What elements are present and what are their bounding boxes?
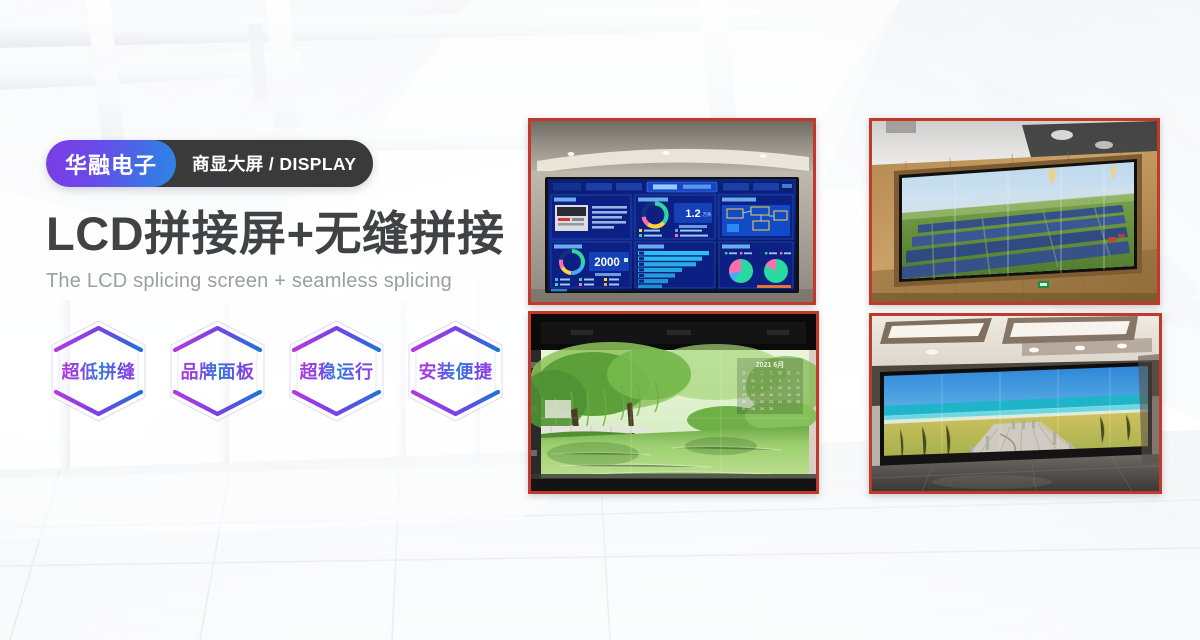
svg-text:2000: 2000 <box>594 257 620 269</box>
feature-badge: 品牌面板 <box>165 317 270 425</box>
svg-text:12: 12 <box>796 386 800 390</box>
svg-text:29: 29 <box>760 407 764 411</box>
svg-text:30: 30 <box>769 407 773 411</box>
svg-text:2: 2 <box>770 379 772 383</box>
svg-text:2021 6月: 2021 6月 <box>756 361 784 369</box>
svg-text:6: 6 <box>743 386 745 390</box>
beach-boardwalk-wall-illustration <box>872 316 1159 491</box>
feature-badge-label: 安装便捷 <box>419 358 493 384</box>
lake-scenery-wall-illustration: 2021 6月 日一二 三四五六 303112345 6789101112 13… <box>531 314 816 491</box>
svg-text:21: 21 <box>751 400 755 404</box>
svg-text:7: 7 <box>752 386 754 390</box>
brand-category: 商显大屏 / DISPLAY <box>152 140 373 187</box>
svg-text:14: 14 <box>751 393 755 397</box>
feature-badge-label: 超稳运行 <box>300 358 374 384</box>
page-title: LCD拼接屏+无缝拼接 <box>46 209 516 260</box>
svg-text:10: 10 <box>778 386 782 390</box>
svg-text:9: 9 <box>770 386 772 390</box>
headline-block: 华融电子 商显大屏 / DISPLAY LCD拼接屏+无缝拼接 The LCD … <box>46 140 516 425</box>
svg-text:22: 22 <box>760 400 764 404</box>
svg-text:万条: 万条 <box>703 211 712 218</box>
svg-text:日: 日 <box>742 371 745 375</box>
svg-text:19: 19 <box>796 393 800 397</box>
svg-text:20: 20 <box>742 400 746 404</box>
feature-badge: 安装便捷 <box>403 317 508 425</box>
brand-pill: 华融电子 商显大屏 / DISPLAY <box>46 140 373 187</box>
feature-badge-label: 超低拼缝 <box>62 358 136 384</box>
svg-text:1.2: 1.2 <box>685 208 700 220</box>
feature-badge-label: 品牌面板 <box>181 358 255 384</box>
svg-text:4: 4 <box>788 379 790 383</box>
svg-text:24: 24 <box>778 400 782 404</box>
svg-text:16: 16 <box>769 393 773 397</box>
photo-lake-scenery-wall[interactable]: 2021 6月 日一二 三四五六 303112345 6789101112 13… <box>528 311 819 494</box>
feature-badge: 超低拼缝 <box>46 317 151 425</box>
svg-text:11: 11 <box>787 386 791 390</box>
svg-text:8: 8 <box>761 386 763 390</box>
feature-badge-list: 超低拼缝 品牌面板 超稳运行 <box>46 317 516 425</box>
product-photo-grid: 1.2 万条 <box>528 118 1160 490</box>
photo-dashboard-wall[interactable]: 1.2 万条 <box>528 118 816 305</box>
solar-farm-wall-illustration <box>872 121 1157 302</box>
dashboard-wall-illustration: 1.2 万条 <box>531 121 813 302</box>
svg-text:23: 23 <box>769 400 773 404</box>
svg-text:28: 28 <box>751 407 755 411</box>
product-banner: 华融电子 商显大屏 / DISPLAY LCD拼接屏+无缝拼接 The LCD … <box>0 0 1200 640</box>
svg-text:17: 17 <box>778 393 782 397</box>
page-subtitle: The LCD splicing screen + seamless splic… <box>46 270 516 293</box>
svg-text:13: 13 <box>742 393 746 397</box>
svg-text:18: 18 <box>787 393 791 397</box>
svg-text:3: 3 <box>779 379 781 383</box>
svg-text:1: 1 <box>761 379 763 383</box>
feature-badge: 超稳运行 <box>284 317 389 425</box>
svg-text:26: 26 <box>796 400 800 404</box>
brand-name: 华融电子 <box>46 140 176 187</box>
photo-solar-farm-wall[interactable] <box>869 118 1160 305</box>
photo-beach-boardwalk-wall[interactable] <box>869 313 1162 494</box>
svg-text:31: 31 <box>751 379 755 383</box>
svg-text:27: 27 <box>742 407 746 411</box>
svg-text:25: 25 <box>787 400 791 404</box>
svg-text:15: 15 <box>760 393 764 397</box>
svg-text:5: 5 <box>797 379 799 383</box>
svg-text:30: 30 <box>742 379 746 383</box>
